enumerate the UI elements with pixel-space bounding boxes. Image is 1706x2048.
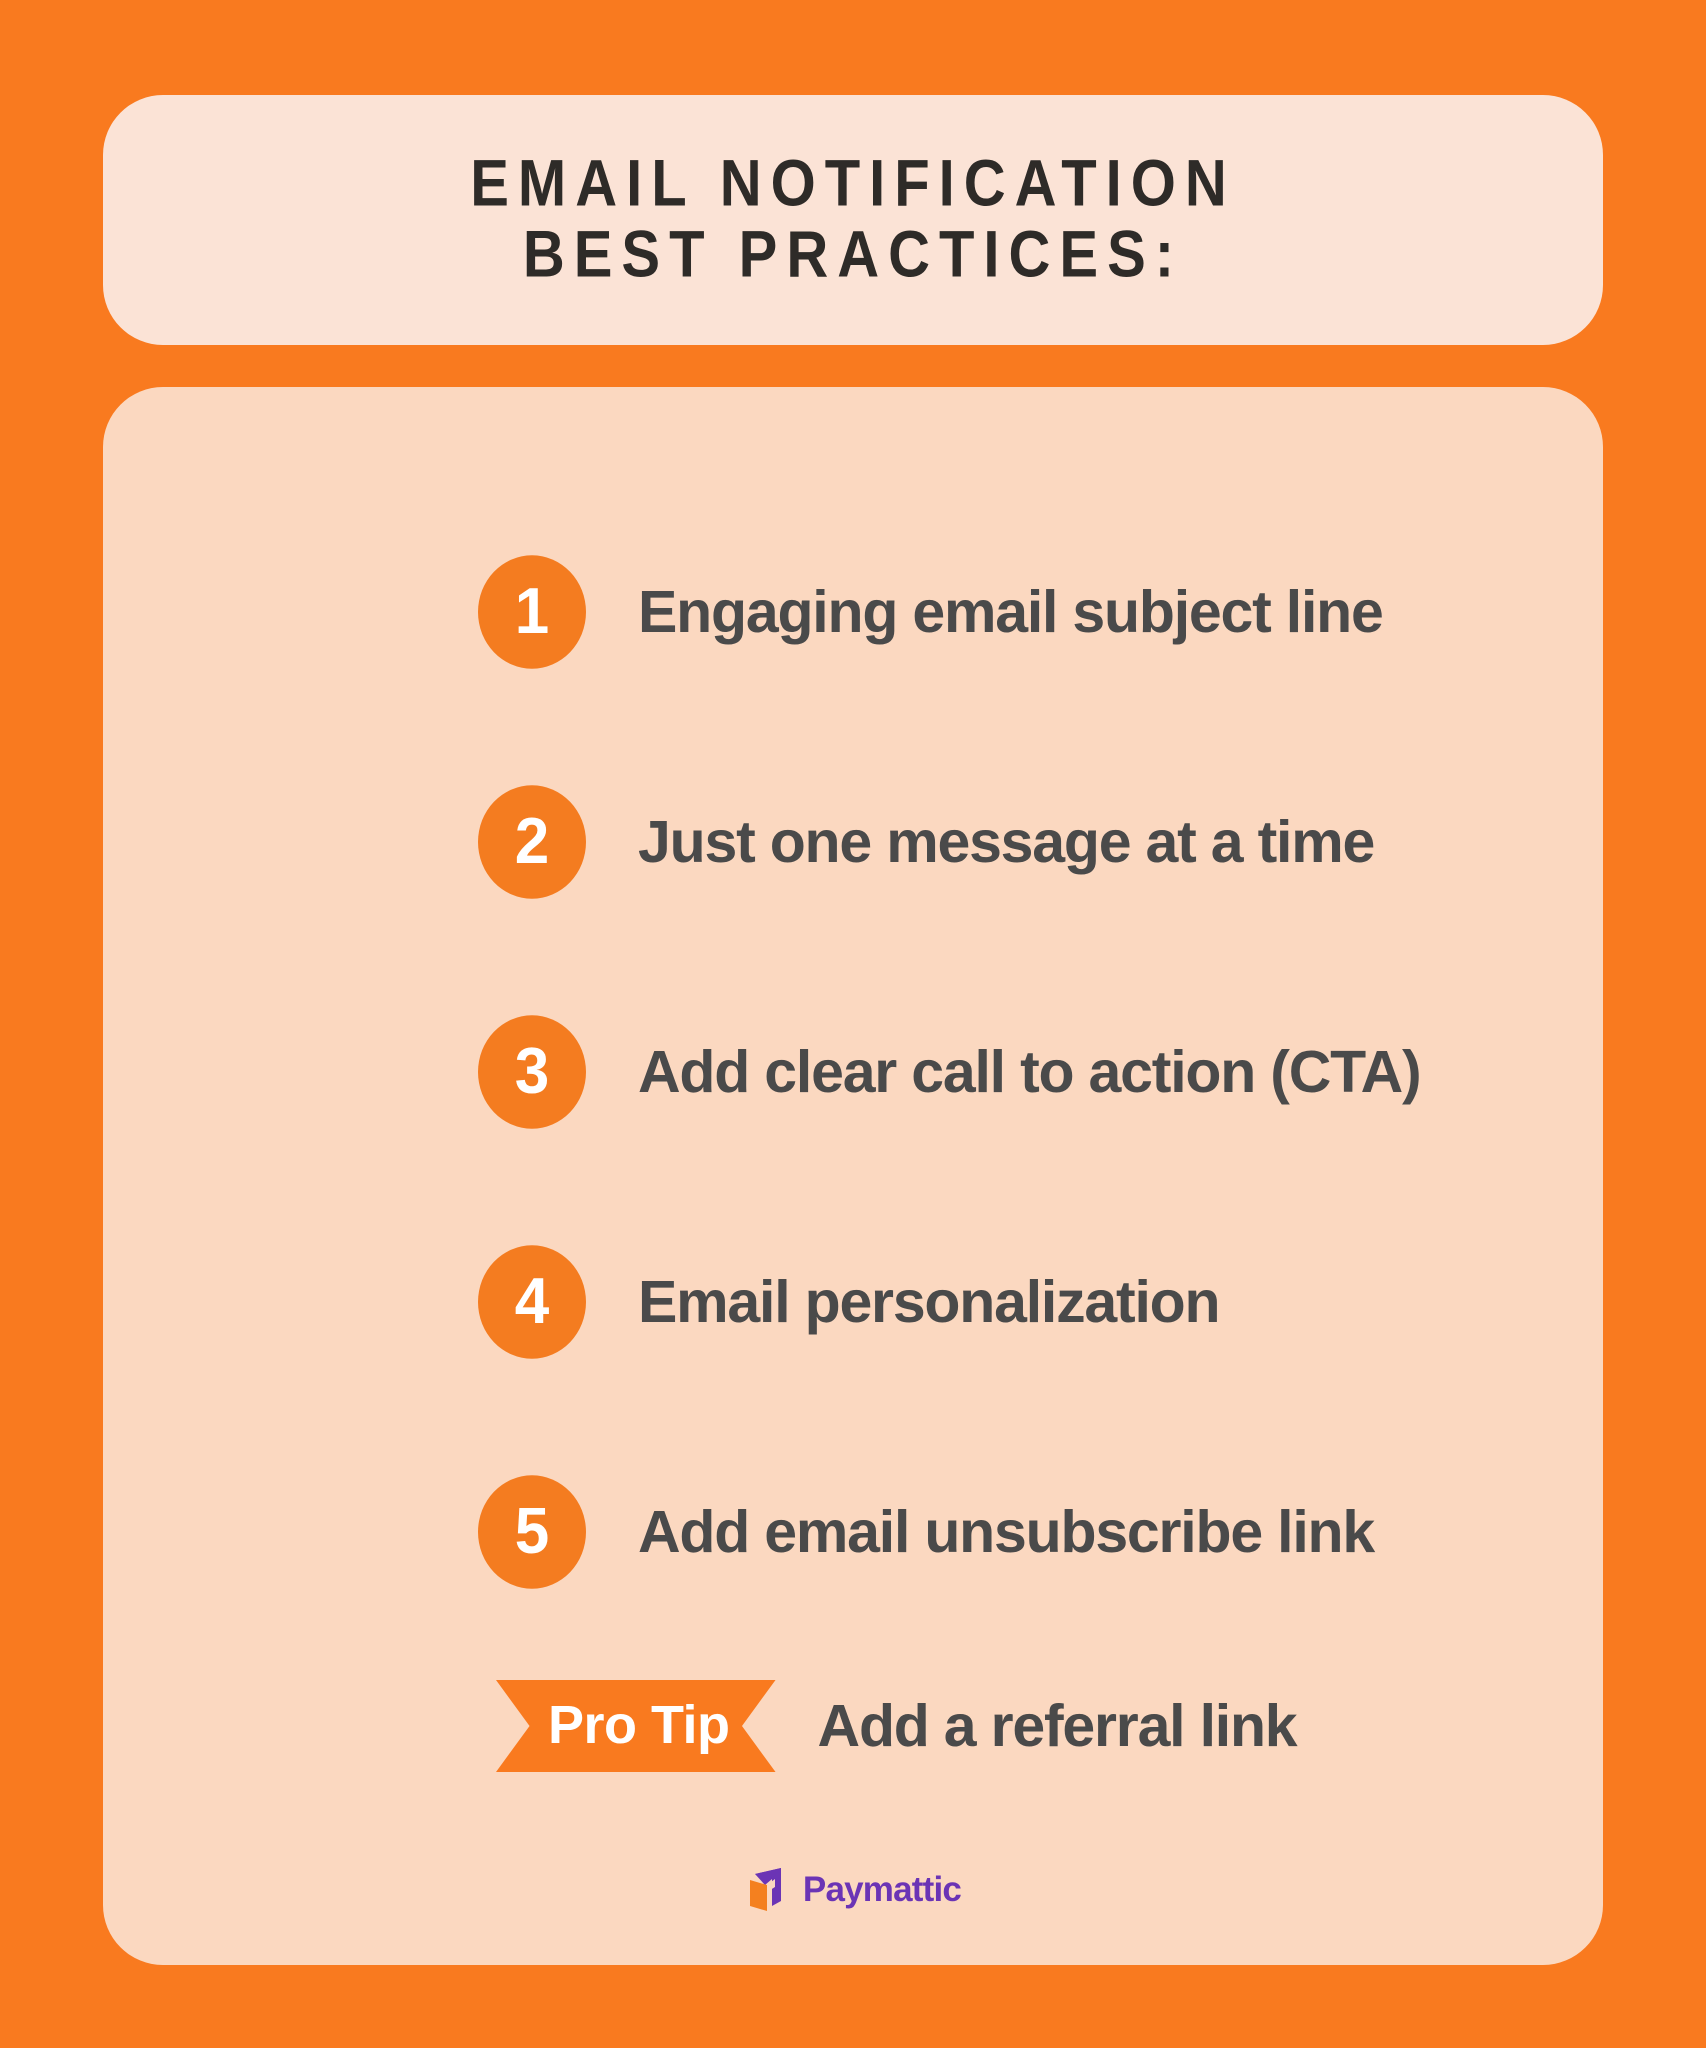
page-title-line-2: BEST PRACTICES: — [523, 219, 1183, 292]
list-item-label: Just one message at a time — [638, 810, 1374, 875]
list-item: 2 Just one message at a time — [288, 727, 1418, 957]
best-practices-list: 1 Engaging email subject line 2 Just one… — [103, 497, 1603, 1647]
paymattic-logo-icon — [745, 1865, 789, 1913]
brand-name: Paymattic — [803, 1872, 961, 1907]
best-practices-card: 1 Engaging email subject line 2 Just one… — [103, 387, 1603, 1965]
list-item-number-badge: 5 — [478, 1475, 586, 1588]
list-item: 4 Email personalization — [288, 1187, 1418, 1417]
page-title-line-1: EMAIL NOTIFICATION — [470, 148, 1236, 221]
list-item-label: Email personalization — [638, 1270, 1219, 1335]
list-item-number-badge: 2 — [478, 785, 586, 898]
poster-root: EMAIL NOTIFICATION BEST PRACTICES: 1 Eng… — [0, 0, 1706, 2048]
list-item: 1 Engaging email subject line — [288, 497, 1418, 727]
list-item-label: Add email unsubscribe link — [638, 1500, 1374, 1565]
list-item: 5 Add email unsubscribe link — [288, 1417, 1418, 1647]
header-card: EMAIL NOTIFICATION BEST PRACTICES: — [103, 95, 1603, 345]
list-item-label: Add clear call to action (CTA) — [638, 1040, 1420, 1105]
pro-tip-label: Add a referral link — [818, 1694, 1297, 1759]
brand-footer: Paymattic — [745, 1865, 961, 1913]
list-item-number-badge: 4 — [478, 1245, 586, 1358]
list-item-number-badge: 3 — [478, 1015, 586, 1128]
list-item-label: Engaging email subject line — [638, 580, 1383, 645]
list-item: 3 Add clear call to action (CTA) — [288, 957, 1418, 1187]
pro-tip-row: Pro Tip Add a referral link — [288, 1651, 1418, 1801]
list-item-number-badge: 1 — [478, 555, 586, 668]
pro-tip-ribbon-badge: Pro Tip — [496, 1680, 776, 1772]
